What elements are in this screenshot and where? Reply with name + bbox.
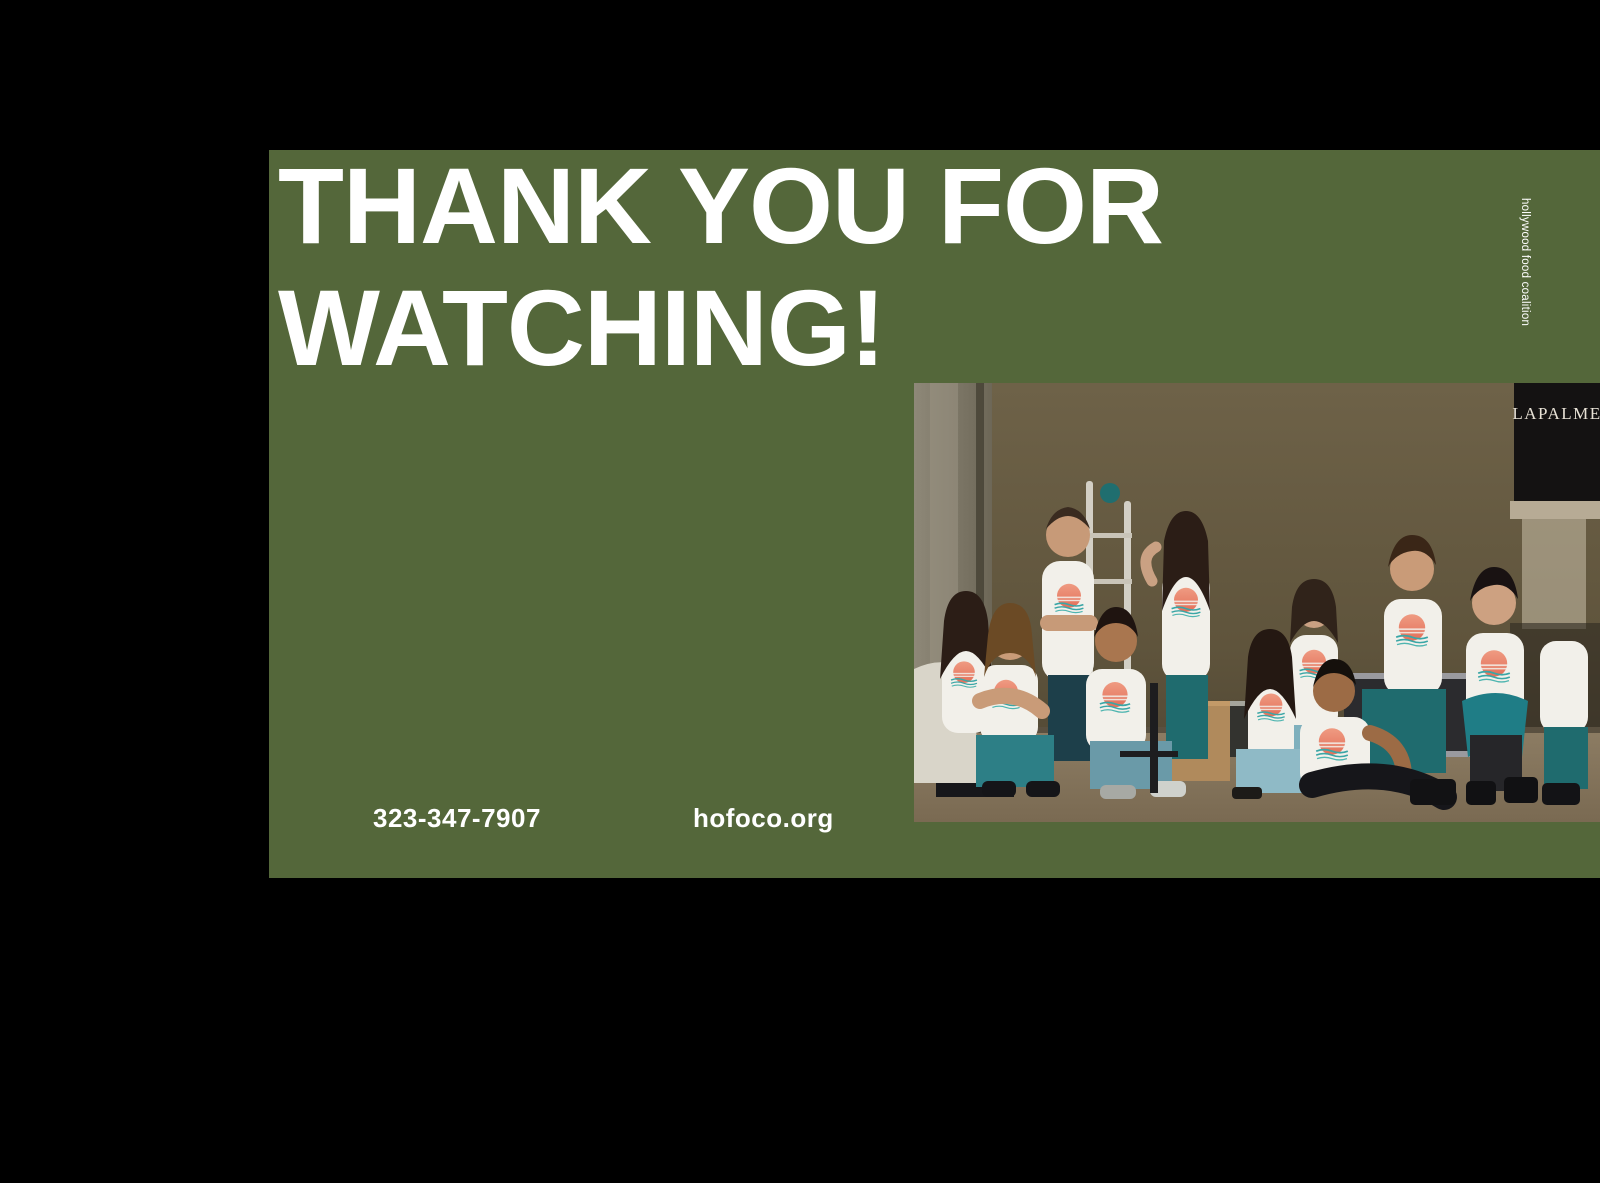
- page-title: THANK YOU FOR WATCHING!: [278, 150, 1278, 389]
- group-photo: LAPALME: [914, 383, 1600, 822]
- svg-text:LAPALME: LAPALME: [1512, 404, 1600, 423]
- phone-number[interactable]: 323-347-7907: [373, 803, 541, 834]
- slide-canvas: THANK YOU FOR WATCHING! hollywood food c…: [0, 0, 1600, 1183]
- website-url[interactable]: hofoco.org: [693, 803, 834, 834]
- group-photo-illustration: LAPALME: [914, 383, 1600, 822]
- brand-vertical-label: hollywood food coalition: [1519, 198, 1531, 326]
- green-content-panel: THANK YOU FOR WATCHING! hollywood food c…: [269, 150, 1600, 878]
